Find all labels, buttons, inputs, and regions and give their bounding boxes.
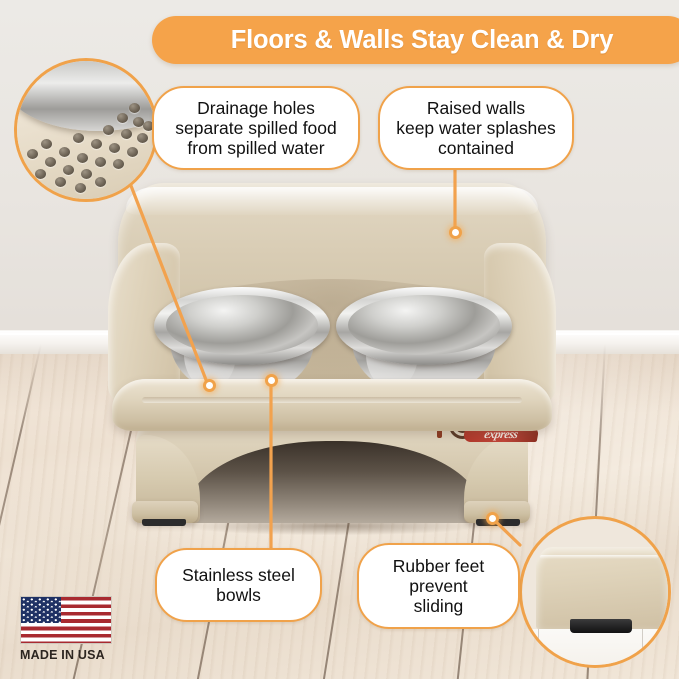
closeup-rubber-foot [570, 619, 632, 633]
header-banner: Floors & Walls Stay Clean & Dry [152, 16, 679, 64]
callout-stainless-bowls: Stainless steel bowls [155, 548, 322, 622]
made-in-usa-label: MADE IN USA [20, 648, 116, 662]
tray-front-groove [142, 397, 522, 403]
product-infographic: Neater Feeder® express [0, 0, 679, 679]
connector-dot-bowls [265, 374, 278, 387]
callout-raised-walls: Raised walls keep water splashes contain… [378, 86, 574, 170]
tray-front-lip [112, 379, 552, 431]
closeup-feeder-leg [536, 547, 668, 629]
closeup-floor [519, 629, 671, 668]
callout-feet-text: Rubber feet prevent sliding [384, 556, 493, 617]
drainage-holes-closeup [14, 58, 158, 202]
callout-drainage-holes: Drainage holes separate spilled food fro… [152, 86, 360, 170]
rubber-feet-closeup [519, 516, 671, 668]
neater-feeder-product: Neater Feeder® express [108, 183, 556, 533]
made-in-usa-badge: MADE IN USA [20, 596, 116, 662]
rubber-foot-left [142, 519, 186, 526]
closeup-leg-edge [540, 555, 658, 559]
connector-dot-feet [486, 512, 499, 525]
callout-walls-text: Raised walls keep water splashes contain… [387, 98, 565, 159]
us-flag-icon [20, 596, 112, 644]
connector-dot-drainage [203, 379, 216, 392]
callout-rubber-feet: Rubber feet prevent sliding [357, 543, 520, 629]
banner-title: Floors & Walls Stay Clean & Dry [231, 26, 614, 55]
tray-rim-highlight [126, 187, 538, 215]
callout-bowls-text: Stainless steel bowls [173, 565, 304, 606]
connector-dot-walls [449, 226, 462, 239]
callout-drainage-text: Drainage holes separate spilled food fro… [166, 98, 346, 159]
